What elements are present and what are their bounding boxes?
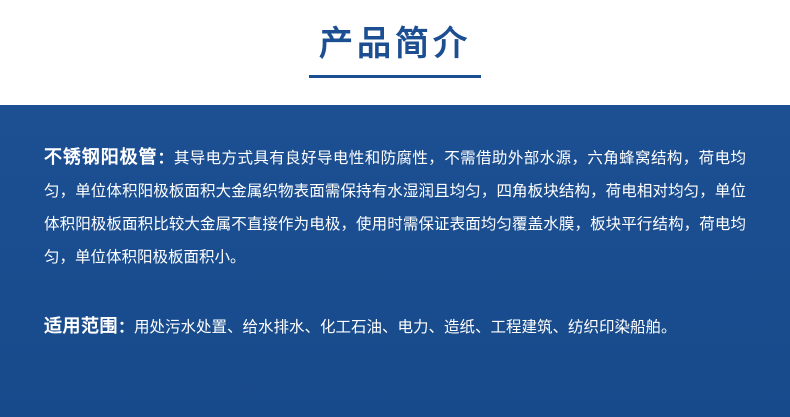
title-area: 产品简介 xyxy=(0,0,790,105)
section-lead-separator: ： xyxy=(118,317,134,336)
section-product-description: 不锈钢阳极管：其导电方式具有良好导电性和防腐性，不需借助外部水源，六角蜂窝结构，… xyxy=(44,141,746,274)
product-intro-page: 产品简介 不锈钢阳极管：其导电方式具有良好导电性和防腐性，不需借助外部水源，六角… xyxy=(0,0,790,417)
section-lead-label: 不锈钢阳极管 xyxy=(44,147,157,168)
content-panel: 不锈钢阳极管：其导电方式具有良好导电性和防腐性，不需借助外部水源，六角蜂窝结构，… xyxy=(0,105,790,417)
section-application-scope: 适用范围：用处污水处置、给水排水、化工石油、电力、造纸、工程建筑、纺织印染船舶。 xyxy=(44,310,746,344)
section-lead-label: 适用范围 xyxy=(44,316,118,337)
title-underline xyxy=(309,75,481,78)
section-body-text: 用处污水处置、给水排水、化工石油、电力、造纸、工程建筑、纺织印染船舶。 xyxy=(134,318,677,336)
page-title: 产品简介 xyxy=(319,26,471,63)
section-lead-separator: ： xyxy=(157,148,173,167)
